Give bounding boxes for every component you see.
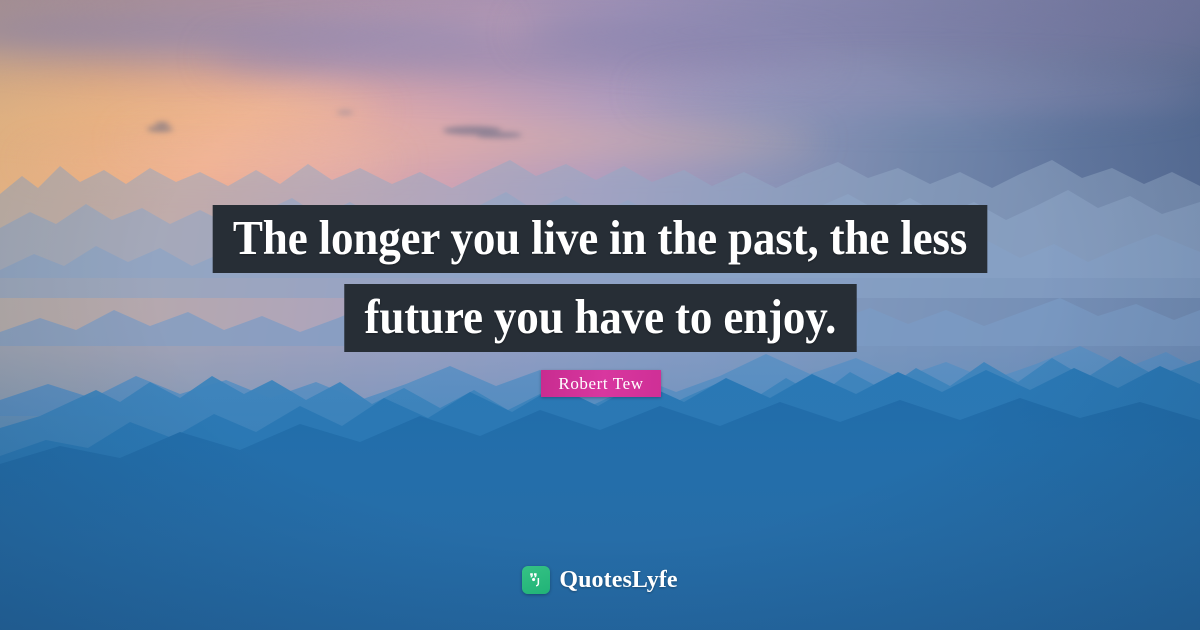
quote-line-1: The longer you live in the past, the les… — [213, 205, 988, 273]
brand-name: QuotesLyfe — [559, 567, 677, 594]
quote-card: The longer you live in the past, the les… — [0, 0, 1200, 630]
quote-line-2: future you have to enjoy. — [344, 284, 856, 352]
cloud-wisp — [155, 122, 169, 127]
cloud-wisp — [476, 132, 522, 138]
cloud-band — [640, 72, 1200, 112]
cloud-wisp — [337, 110, 353, 115]
quote-bubble-icon — [522, 566, 550, 594]
author-badge: Robert Tew — [541, 370, 661, 397]
mountain-ridge-foreground-2 — [0, 398, 1200, 630]
quote-block: The longer you live in the past, the les… — [0, 205, 1200, 352]
cloud-band — [520, 0, 1200, 62]
brand-logo: QuotesLyfe — [0, 566, 1200, 594]
